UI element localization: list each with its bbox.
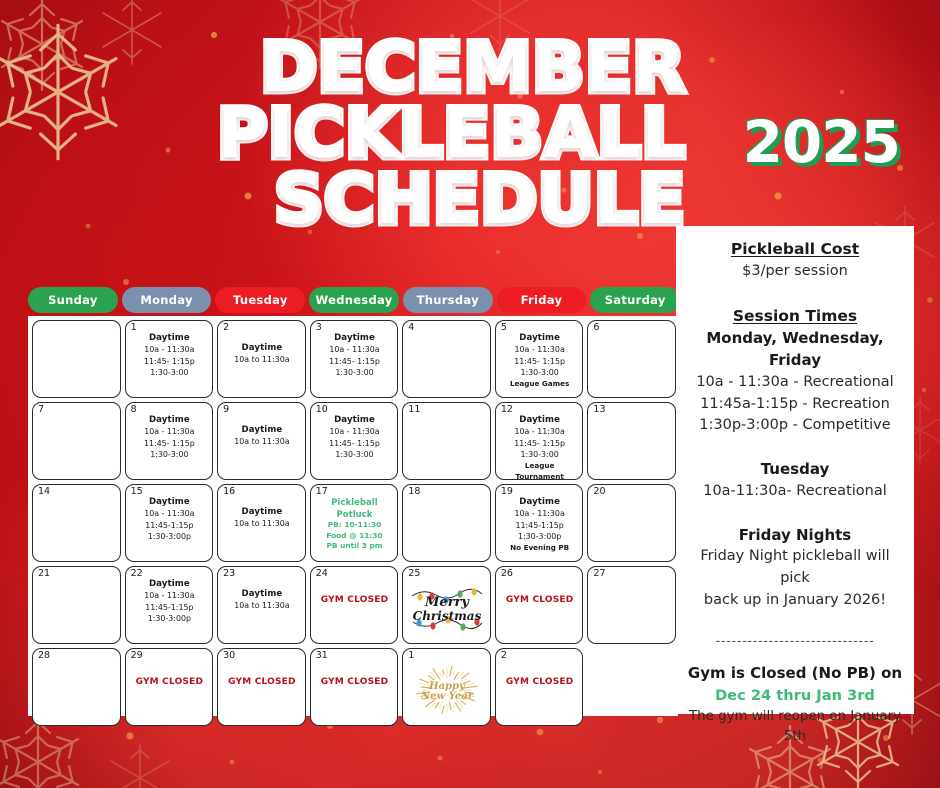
day-number: 14 [38,487,50,497]
closure-dates: Dec 24 thru Jan 3rd [685,685,905,707]
calendar-cell-26: 26GYM CLOSED [495,566,584,644]
spacer [685,612,905,634]
day-number: 4 [408,323,414,333]
day-number: 13 [593,405,605,415]
session-time: 11:45- 1:15p [130,438,210,449]
session-details: Daytime10a - 11:30a11:45-1:15p1:30-3:00p [130,578,210,624]
holiday-artwork: Happy New Year [408,664,486,716]
tuesday-line: 10a-11:30a- Recreational [685,481,905,503]
gym-closed-label: GYM CLOSED [130,677,210,687]
calendar-cell-blank [587,648,676,726]
session-heading: Daytime [315,332,395,344]
mwf-line-3: 1:30p-3:00p - Competitive [685,415,905,437]
session-time: 11:45- 1:15p [315,438,395,449]
calendar-cell-25: 25 Merry Christmas [402,566,491,644]
session-heading: Daytime [222,342,302,354]
session-time: 10a - 11:30a [130,426,210,437]
session-heading: Daytime [130,332,210,344]
day-number: 30 [223,651,235,661]
session-time: 11:45- 1:15p [130,356,210,367]
session-details: Daytime10a - 11:30a11:45- 1:15p1:30-3:00… [500,332,580,390]
session-time: 1:30-3:00 [500,449,580,460]
spacer [685,437,905,459]
calendar-cell-8: 8Daytime10a - 11:30a11:45- 1:15p1:30-3:0… [125,402,214,480]
spacer [685,649,905,663]
session-time: 1:30-3:00p [130,613,210,624]
session-details: Daytime10a - 11:30a11:45- 1:15p1:30-3:00 [130,332,210,378]
spacer [685,503,905,525]
poster-year: 2025 [743,108,900,176]
session-details: Daytime10a - 11:30a11:45-1:15p1:30-3:00p [130,496,210,542]
session-time: PB until 3 pm [315,541,395,552]
gym-closed-label: GYM CLOSED [222,677,302,687]
day-number: 11 [408,405,420,415]
day-number: 22 [131,569,143,579]
session-time: 10a to 11:30a [222,436,302,447]
reopen-line: The gym will reopen on January 5th [685,707,905,747]
session-time: 10a - 11:30a [130,344,210,355]
calendar-cell-28: 28 [32,648,121,726]
day-number: 12 [501,405,513,415]
session-details: Daytime10a to 11:30a [222,424,302,448]
session-time: 10a - 11:30a [130,508,210,519]
calendar-cell-31: 31GYM CLOSED [310,648,399,726]
session-heading: Daytime [500,414,580,426]
session-heading: Daytime [315,414,395,426]
calendar-cell-21: 21 [32,566,121,644]
session-details: Daytime10a - 11:30a11:45- 1:15p1:30-3:00 [315,332,395,378]
weekday-header-wednesday: Wednesday [309,287,399,313]
weekday-header-tuesday: Tuesday [215,287,305,313]
session-heading: Daytime [500,332,580,344]
day-number: 26 [501,569,513,579]
session-time: 1:30-3:00p [130,531,210,542]
day-number: 8 [131,405,137,415]
friday-line-1: Friday Night pickleball will pick [685,546,905,590]
day-number: 17 [316,487,328,497]
session-details: Daytime10a - 11:30a11:45- 1:15p1:30-3:00 [130,414,210,460]
session-time: 1:30-3:00 [130,367,210,378]
closure-heading: Gym is Closed (No PB) on [685,663,905,685]
svg-text:Christmas: Christmas [413,609,482,623]
title-line-sport: PICKLEBALL [46,102,686,168]
calendar-cell-16: 16Daytime10a to 11:30a [217,484,306,562]
svg-text:Merry: Merry [424,595,470,610]
session-heading: Pickleball Potluck [315,496,395,520]
day-number: 1 [131,323,137,333]
day-number: 16 [223,487,235,497]
session-times-heading: Session Times [685,305,905,328]
calendar-cell-10: 10Daytime10a - 11:30a11:45- 1:15p1:30-3:… [310,402,399,480]
session-heading: Daytime [500,496,580,508]
poster-title: DECEMBER PICKLEBALL SCHEDULE [46,36,686,234]
divider: ------------------------------ [685,634,905,650]
day-number: 6 [593,323,599,333]
session-time: 10a - 11:30a [315,344,395,355]
mwf-line-1: 10a - 11:30a - Recreational [685,372,905,394]
mwf-days-label: Monday, Wednesday, Friday [685,328,905,372]
day-number: 5 [501,323,507,333]
session-heading: Daytime [130,496,210,508]
info-panel: Pickleball Cost $3/per session Session T… [676,226,914,714]
friday-nights-heading: Friday Nights [685,525,905,547]
calendar-cell-23: 23Daytime10a to 11:30a [217,566,306,644]
day-number: 1 [408,651,414,661]
day-number: 15 [131,487,143,497]
cost-value: $3/per session [685,261,905,283]
calendar-cell-19: 19Daytime10a - 11:30a11:45-1:15p1:30-3:0… [495,484,584,562]
session-time: 1:30-3:00 [500,367,580,378]
calendar-cell-5: 5Daytime10a - 11:30a11:45- 1:15p1:30-3:0… [495,320,584,398]
day-number: 28 [38,651,50,661]
gym-closed-label: GYM CLOSED [500,677,580,687]
weekday-header-monday: Monday [122,287,212,313]
session-time: 10a to 11:30a [222,354,302,365]
weekday-header-thursday: Thursday [403,287,493,313]
day-number: 2 [501,651,507,661]
gym-closed-label: GYM CLOSED [315,677,395,687]
session-time: 10a - 11:30a [500,426,580,437]
session-time: 1:30-3:00 [315,449,395,460]
happy-new-year-icon: Happy New Year [408,664,486,716]
calendar-cell-20: 20 [587,484,676,562]
spacer [685,283,905,305]
session-time: 11:45- 1:15p [500,438,580,449]
calendar-cell-12: 12Daytime10a - 11:30a11:45- 1:15p1:30-3:… [495,402,584,480]
day-number: 29 [131,651,143,661]
weekday-header-friday: Friday [497,287,587,313]
session-time: 10a - 11:30a [315,426,395,437]
session-details: Daytime10a - 11:30a11:45- 1:15p1:30-3:00… [500,414,580,480]
calendar-cell-30: 30GYM CLOSED [217,648,306,726]
calendar-cell-empty [32,320,121,398]
title-line-schedule: SCHEDULE [46,168,686,234]
session-note: League Tournament [500,461,580,480]
session-heading: Daytime [222,424,302,436]
session-time: 11:45-1:15p [130,520,210,531]
session-heading: Daytime [222,588,302,600]
session-time: 11:45- 1:15p [500,356,580,367]
holiday-artwork: Merry Christmas [408,582,486,634]
calendar-grid: 1Daytime10a - 11:30a11:45- 1:15p1:30-3:0… [32,320,676,726]
calendar-cell-11: 11 [402,402,491,480]
mwf-line-2: 11:45a-1:15p - Recreation [685,394,905,416]
day-number: 25 [408,569,420,579]
session-note: No Evening PB [500,543,580,554]
gym-closed-label: GYM CLOSED [500,595,580,605]
friday-line-2: back up in January 2026! [685,590,905,612]
session-heading: Daytime [130,578,210,590]
day-number: 19 [501,487,513,497]
session-time: 10a to 11:30a [222,518,302,529]
cost-heading: Pickleball Cost [685,238,905,261]
calendar-cell-3: 3Daytime10a - 11:30a11:45- 1:15p1:30-3:0… [310,320,399,398]
session-details: Daytime10a to 11:30a [222,342,302,366]
day-number: 27 [593,569,605,579]
session-time: 11:45-1:15p [500,520,580,531]
title-line-month: DECEMBER [46,36,686,102]
session-details: Daytime10a - 11:30a11:45-1:15p1:30-3:00p… [500,496,580,554]
calendar-cell-18: 18 [402,484,491,562]
calendar-cell-17: 17Pickleball PotluckPB: 10-11:30Food @ 1… [310,484,399,562]
gym-closed-label: GYM CLOSED [315,595,395,605]
session-time: 11:45-1:15p [130,602,210,613]
session-time: 10a - 11:30a [500,344,580,355]
day-number: 31 [316,651,328,661]
calendar-cell-9: 9Daytime10a to 11:30a [217,402,306,480]
svg-text:New Year: New Year [420,691,474,702]
session-details: Daytime10a to 11:30a [222,588,302,612]
session-time: 10a - 11:30a [500,508,580,519]
day-number: 21 [38,569,50,579]
calendar-cell-1: 1Daytime10a - 11:30a11:45- 1:15p1:30-3:0… [125,320,214,398]
day-number: 24 [316,569,328,579]
day-number: 7 [38,405,44,415]
calendar-cell-29: 29GYM CLOSED [125,648,214,726]
day-number: 18 [408,487,420,497]
calendar-cell-6: 6 [587,320,676,398]
calendar-cell-13: 13 [587,402,676,480]
calendar-cell-1: 1 Happy New Year [402,648,491,726]
day-number: 20 [593,487,605,497]
session-heading: Daytime [130,414,210,426]
session-time: 10a to 11:30a [222,600,302,611]
weekday-header-sunday: Sunday [28,287,118,313]
calendar-cell-2: 2GYM CLOSED [495,648,584,726]
calendar-cell-2: 2Daytime10a to 11:30a [217,320,306,398]
day-number: 9 [223,405,229,415]
day-number: 2 [223,323,229,333]
session-time: Food @ 11:30 [315,531,395,542]
session-time: 1:30-3:00p [500,531,580,542]
session-time: PB: 10-11:30 [315,520,395,531]
merry-christmas-icon: Merry Christmas [408,582,486,634]
session-details: Daytime10a to 11:30a [222,506,302,530]
session-time: 10a - 11:30a [130,590,210,601]
calendar-cell-24: 24GYM CLOSED [310,566,399,644]
session-time: 1:30-3:00 [130,449,210,460]
day-number: 10 [316,405,328,415]
session-time: 11:45- 1:15p [315,356,395,367]
session-time: 1:30-3:00 [315,367,395,378]
day-number: 3 [316,323,322,333]
session-heading: Daytime [222,506,302,518]
calendar-cell-7: 7 [32,402,121,480]
session-details: Pickleball PotluckPB: 10-11:30Food @ 11:… [315,496,395,552]
weekday-header-row: SundayMondayTuesdayWednesdayThursdayFrid… [28,287,680,313]
tuesday-heading: Tuesday [685,459,905,481]
calendar-cell-15: 15Daytime10a - 11:30a11:45-1:15p1:30-3:0… [125,484,214,562]
calendar-cell-22: 22Daytime10a - 11:30a11:45-1:15p1:30-3:0… [125,566,214,644]
session-note: League Games [500,379,580,390]
day-number: 23 [223,569,235,579]
calendar-cell-14: 14 [32,484,121,562]
calendar-cell-4: 4 [402,320,491,398]
weekday-header-saturday: Saturday [590,287,680,313]
session-details: Daytime10a - 11:30a11:45- 1:15p1:30-3:00 [315,414,395,460]
calendar-cell-27: 27 [587,566,676,644]
